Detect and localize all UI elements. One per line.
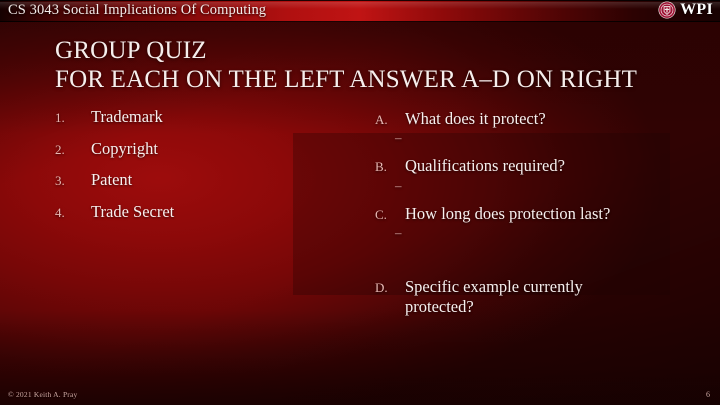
left-column-list: 1. Trademark 2. Copyright 3. Patent 4. T…	[55, 107, 295, 233]
wpi-logo: WPI	[658, 1, 713, 19]
list-item-sub-bullet: –	[375, 179, 675, 202]
list-item-number: 2.	[55, 142, 91, 158]
list-item-letter: C.	[375, 207, 405, 223]
list-item-sub-bullet: –	[375, 131, 675, 154]
page-title-line-1: GROUP QUIZ	[55, 36, 675, 65]
list-item-letter: A.	[375, 112, 405, 128]
list-item: 4. Trade Secret	[55, 202, 295, 234]
list-item: B. Qualifications required?	[375, 154, 675, 178]
list-item-label: Trade Secret	[91, 202, 174, 222]
wpi-seal-icon	[658, 1, 676, 19]
list-item: C. How long does protection last?	[375, 202, 675, 226]
list-item-label: Trademark	[91, 107, 163, 127]
dash-icon: –	[395, 131, 402, 144]
wpi-wordmark: WPI	[680, 2, 713, 18]
list-item-label: Qualifications required?	[405, 156, 565, 175]
list-item-label: Specific example currently protected?	[405, 277, 633, 316]
dash-icon: –	[395, 179, 402, 192]
course-title: CS 3043 Social Implications Of Computing	[8, 2, 266, 19]
list-item: A. What does it protect?	[375, 107, 675, 131]
list-item-label: What does it protect?	[405, 109, 546, 128]
list-item-label: Copyright	[91, 139, 158, 159]
list-item: 3. Patent	[55, 170, 295, 202]
list-item-group: B. Qualifications required? –	[375, 154, 675, 201]
list-item-sub-bullet: –	[375, 226, 675, 249]
footer-copyright: © 2021 Keith A. Pray	[8, 390, 78, 399]
list-item: 2. Copyright	[55, 139, 295, 171]
list-item-number: 1.	[55, 110, 91, 126]
page-title: GROUP QUIZ FOR EACH ON THE LEFT ANSWER A…	[55, 36, 675, 94]
list-item-number: 3.	[55, 173, 91, 189]
page-title-line-2: FOR EACH ON THE LEFT ANSWER A–D ON RIGHT	[55, 65, 675, 94]
dash-icon: –	[395, 226, 402, 239]
list-item-group: D. Specific example currently protected?	[375, 275, 675, 319]
list-item-number: 4.	[55, 205, 91, 221]
list-item-label: How long does protection last?	[405, 204, 610, 223]
list-item: 1. Trademark	[55, 107, 295, 139]
slide: CS 3043 Social Implications Of Computing…	[0, 0, 720, 405]
list-item-letter: D.	[375, 280, 405, 296]
list-item-letter: B.	[375, 159, 405, 175]
right-column-list: A. What does it protect? – B. Qualificat…	[375, 107, 675, 319]
background-bottom-shade	[0, 310, 720, 405]
list-item-group: A. What does it protect? –	[375, 107, 675, 154]
list-item-label: Patent	[91, 170, 132, 190]
list-item-group: C. How long does protection last? –	[375, 202, 675, 249]
header-bar: CS 3043 Social Implications Of Computing…	[0, 0, 720, 22]
list-item: D. Specific example currently protected?	[375, 275, 675, 319]
page-number: 6	[706, 390, 710, 399]
